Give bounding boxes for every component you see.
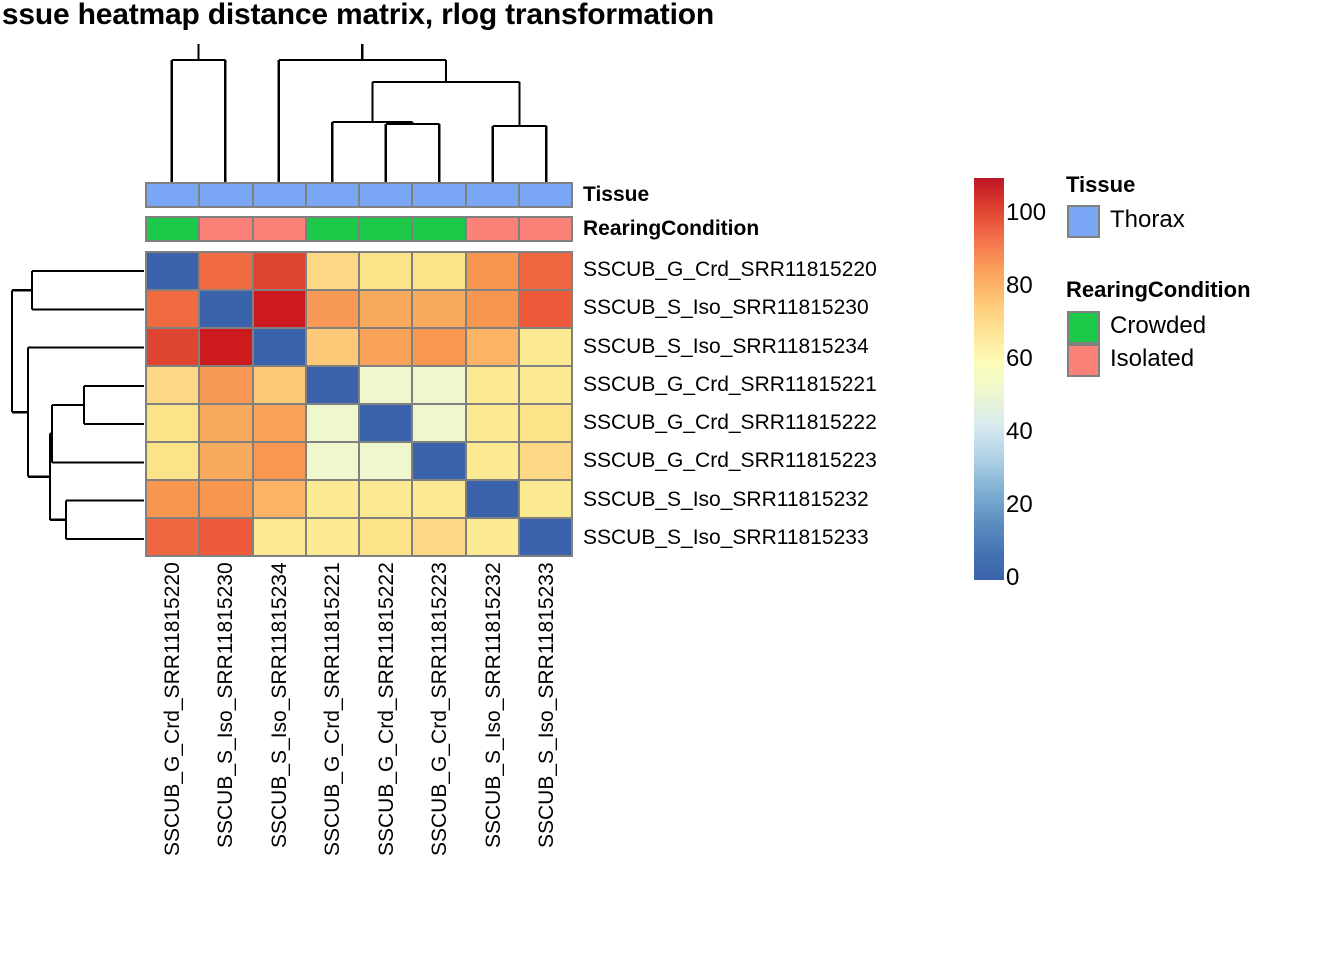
rearing-track-label: RearingCondition — [583, 217, 759, 241]
colorbar-tick: 20 — [1006, 491, 1033, 519]
tissue-annotation-track — [145, 182, 573, 208]
heatmap-cell — [412, 442, 465, 480]
tissue-cell — [519, 183, 572, 207]
column-label: SSCUB_S_Iso_SRR11815233 — [535, 562, 559, 947]
heatmap-cell — [412, 328, 465, 366]
heatmap-cell — [253, 442, 306, 480]
heatmap-cell — [519, 442, 572, 480]
heatmap-cell — [466, 518, 519, 556]
rearing-annotation-track — [145, 216, 573, 242]
heatmap-cell — [359, 518, 412, 556]
heatmap-cell — [199, 252, 252, 290]
legend-label-thorax: Thorax — [1110, 206, 1185, 234]
heatmap-cell — [253, 518, 306, 556]
column-label: SSCUB_G_Crd_SRR11815222 — [375, 562, 399, 947]
heatmap-cell — [519, 366, 572, 404]
row-label: SSCUB_G_Crd_SRR11815220 — [583, 251, 877, 289]
heatmap-cell — [306, 328, 359, 366]
heatmap-cell — [412, 252, 465, 290]
heatmap-cell — [146, 328, 199, 366]
heatmap-cell — [412, 290, 465, 328]
rearing-cell — [306, 217, 359, 241]
rearing-cell — [199, 217, 252, 241]
heatmap-cell — [199, 480, 252, 518]
rearing-cell — [466, 217, 519, 241]
row-label: SSCUB_G_Crd_SRR11815222 — [583, 404, 877, 442]
column-label: SSCUB_G_Crd_SRR11815220 — [161, 562, 185, 947]
heatmap-cell — [306, 366, 359, 404]
tissue-cell — [253, 183, 306, 207]
heatmap-cell — [519, 404, 572, 442]
heatmap-cell — [146, 366, 199, 404]
heatmap-cell — [306, 480, 359, 518]
heatmap-cell — [466, 404, 519, 442]
heatmap-cell — [359, 442, 412, 480]
heatmap-figure: tissue heatmap distance matrix, rlog tra… — [0, 0, 1344, 960]
column-label: SSCUB_S_Iso_SRR11815230 — [214, 562, 238, 947]
heatmap-cell — [146, 480, 199, 518]
rearing-cell — [412, 217, 465, 241]
legend-title-tissue: Tissue — [1066, 172, 1135, 198]
heatmap-cell — [466, 366, 519, 404]
column-label-list: SSCUB_G_Crd_SRR11815220SSCUB_S_Iso_SRR11… — [145, 562, 573, 952]
tissue-cell — [306, 183, 359, 207]
column-label: SSCUB_S_Iso_SRR11815232 — [482, 562, 506, 947]
tissue-track-label: Tissue — [583, 183, 649, 207]
colorbar — [974, 178, 1004, 580]
colorbar-tick: 60 — [1006, 345, 1033, 373]
rearing-cell — [146, 217, 199, 241]
tissue-cell — [359, 183, 412, 207]
column-label: SSCUB_G_Crd_SRR11815223 — [428, 562, 452, 947]
heatmap-cell — [359, 480, 412, 518]
heatmap-cell — [519, 480, 572, 518]
tissue-cell — [199, 183, 252, 207]
heatmap-cell — [199, 366, 252, 404]
heatmap-cell — [466, 328, 519, 366]
rearing-cell — [253, 217, 306, 241]
legend-label-isolated: Isolated — [1110, 345, 1194, 373]
page-title: tissue heatmap distance matrix, rlog tra… — [0, 0, 984, 32]
colorbar-gradient — [974, 178, 1004, 580]
heatmap-cell — [199, 442, 252, 480]
column-dendrogram-lines — [145, 44, 575, 184]
heatmap-cell — [519, 518, 572, 556]
heatmap-cell — [359, 366, 412, 404]
row-label: SSCUB_S_Iso_SRR11815233 — [583, 519, 877, 557]
heatmap-cell — [519, 328, 572, 366]
heatmap-cell — [253, 252, 306, 290]
heatmap-cell — [199, 404, 252, 442]
legend-swatch-isolated — [1067, 344, 1100, 377]
heatmap-cell — [466, 442, 519, 480]
heatmap-cell — [199, 290, 252, 328]
heatmap-cell — [359, 252, 412, 290]
heatmap-cell — [306, 290, 359, 328]
heatmap-cell — [306, 252, 359, 290]
tissue-cell — [466, 183, 519, 207]
heatmap-cell — [199, 518, 252, 556]
heatmap-cell — [466, 252, 519, 290]
heatmap-cell — [519, 290, 572, 328]
heatmap-cell — [253, 290, 306, 328]
heatmap-cell — [466, 480, 519, 518]
tissue-cell — [412, 183, 465, 207]
legend-swatch-thorax — [1067, 205, 1100, 238]
heatmap-cell — [466, 290, 519, 328]
heatmap-cell — [359, 328, 412, 366]
rearing-cell — [519, 217, 572, 241]
colorbar-tick: 100 — [1006, 199, 1046, 227]
heatmap-cell — [146, 442, 199, 480]
column-label: SSCUB_G_Crd_SRR11815221 — [321, 562, 345, 947]
row-label: SSCUB_G_Crd_SRR11815221 — [583, 366, 877, 404]
heatmap-cell — [306, 442, 359, 480]
column-label: SSCUB_S_Iso_SRR11815234 — [268, 562, 292, 947]
heatmap-cell — [146, 290, 199, 328]
legend-swatch-crowded — [1067, 311, 1100, 344]
row-label: SSCUB_S_Iso_SRR11815234 — [583, 328, 877, 366]
heatmap-matrix — [145, 251, 573, 557]
heatmap-cell — [146, 518, 199, 556]
heatmap-cell — [253, 366, 306, 404]
heatmap-cell — [146, 404, 199, 442]
tissue-cell — [146, 183, 199, 207]
row-label: SSCUB_S_Iso_SRR11815230 — [583, 289, 877, 327]
heatmap-cell — [146, 252, 199, 290]
heatmap-cell — [253, 480, 306, 518]
heatmap-cell — [253, 404, 306, 442]
heatmap-cell — [412, 480, 465, 518]
legend-title-rearing: RearingCondition — [1066, 277, 1251, 303]
row-label-list: SSCUB_G_Crd_SRR11815220SSCUB_S_Iso_SRR11… — [583, 251, 877, 557]
row-label: SSCUB_G_Crd_SRR11815223 — [583, 442, 877, 480]
colorbar-tick: 0 — [1006, 564, 1019, 592]
heatmap-cell — [253, 328, 306, 366]
heatmap-cell — [519, 252, 572, 290]
colorbar-tick: 40 — [1006, 418, 1033, 446]
heatmap-cell — [306, 404, 359, 442]
row-label: SSCUB_S_Iso_SRR11815232 — [583, 481, 877, 519]
heatmap-cell — [199, 328, 252, 366]
heatmap-cell — [359, 290, 412, 328]
rearing-cell — [359, 217, 412, 241]
colorbar-tick: 80 — [1006, 272, 1033, 300]
heatmap-cell — [412, 366, 465, 404]
heatmap-cell — [359, 404, 412, 442]
row-dendrogram — [8, 251, 146, 559]
heatmap-cell — [412, 404, 465, 442]
heatmap-cell — [306, 518, 359, 556]
heatmap-cell — [412, 518, 465, 556]
legend-label-crowded: Crowded — [1110, 312, 1206, 340]
